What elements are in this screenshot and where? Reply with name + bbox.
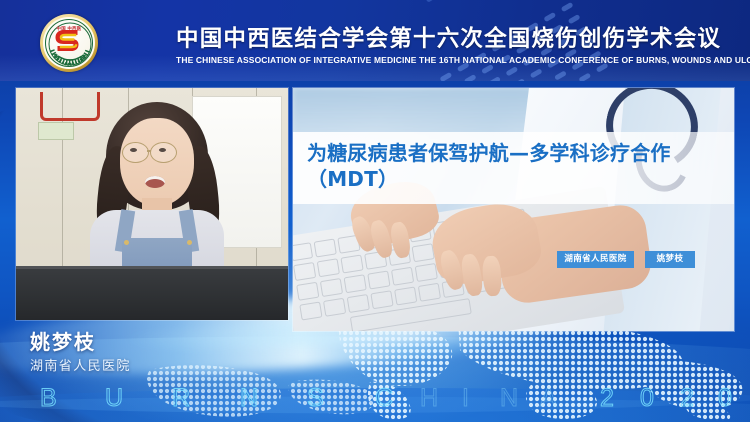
wordmark-letter: 0: [718, 384, 734, 413]
speaker-name: 姚梦枝: [30, 326, 96, 355]
wordmark-letter: C: [375, 384, 395, 413]
video-wall-notice: [38, 122, 74, 140]
wordmark-letter: H: [420, 384, 440, 413]
conference-title-chinese: 中国中西医结合学会第十六次全国烧伤创伤学术会议: [176, 21, 736, 53]
emblem-symbol-icon: [54, 26, 84, 61]
wordmark-letter: N: [240, 384, 260, 413]
wordmark-letter: S: [307, 384, 326, 413]
presentation-slide[interactable]: 为糖尿病患者保驾护航—多学科诊疗合作（MDT）: [293, 88, 734, 331]
conference-broadcast-screen: 中国 中西医 中国中西医结合学会第十六次全国烧伤创伤学术会议 THE CHINE…: [0, 0, 750, 422]
conference-title-english: THE CHINESE ASSOCIATION OF INTEGRATIVE M…: [176, 55, 734, 65]
speaker-video-feed[interactable]: [16, 88, 288, 320]
wordmark-letter: 0: [640, 384, 656, 413]
wordmark-letter: A: [540, 384, 559, 413]
conference-emblem-icon: 中国 中西医: [40, 14, 98, 72]
wordmark-letter: B: [40, 384, 59, 413]
conference-header-banner: 中国 中西医 中国中西医结合学会第十六次全国烧伤创伤学术会议 THE CHINE…: [0, 0, 750, 81]
wordmark-letter: I: [462, 384, 471, 413]
wordmark-letter: 2: [680, 384, 696, 413]
slide-title: 为糖尿病患者保驾护航—多学科诊疗合作（MDT）: [307, 140, 727, 192]
wordmark-letter: U: [105, 384, 125, 413]
speaker-organization: 湖南省人民医院: [30, 355, 131, 374]
wordmark-letter: R: [172, 384, 192, 413]
wordmark-letter: 2: [600, 384, 616, 413]
event-wordmark: BURNSCHINA2020: [0, 384, 750, 418]
presenter-figure: [88, 102, 226, 272]
video-monitor-foreground: [16, 266, 288, 320]
slide-badge-presenter: 姚梦枝: [645, 251, 695, 268]
wordmark-letter: N: [500, 384, 520, 413]
slide-badge-organization: 湖南省人民医院: [557, 251, 634, 268]
